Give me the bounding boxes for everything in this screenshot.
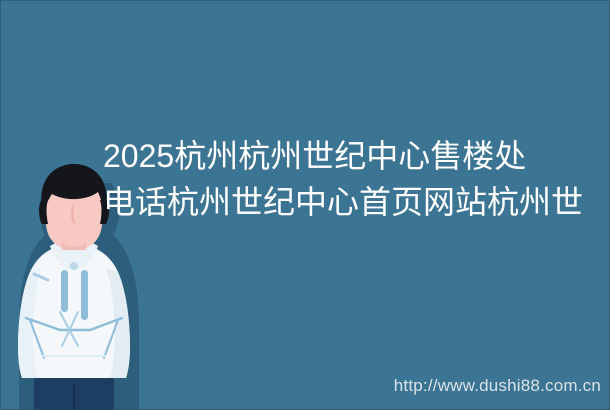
watermark-url: http://www.dushi88.com.cn (394, 376, 601, 396)
cover-image-canvas: 2025杭州杭州世纪中心售楼处 电话杭州世纪中心首页网站杭州世 http://w… (0, 0, 610, 410)
headline-text: 2025杭州杭州世纪中心售楼处 电话杭州世纪中心首页网站杭州世 (103, 133, 608, 225)
headline-line-1: 2025杭州杭州世纪中心售楼处 (103, 133, 608, 179)
headline-line-2: 电话杭州世纪中心首页网站杭州世 (103, 179, 608, 225)
